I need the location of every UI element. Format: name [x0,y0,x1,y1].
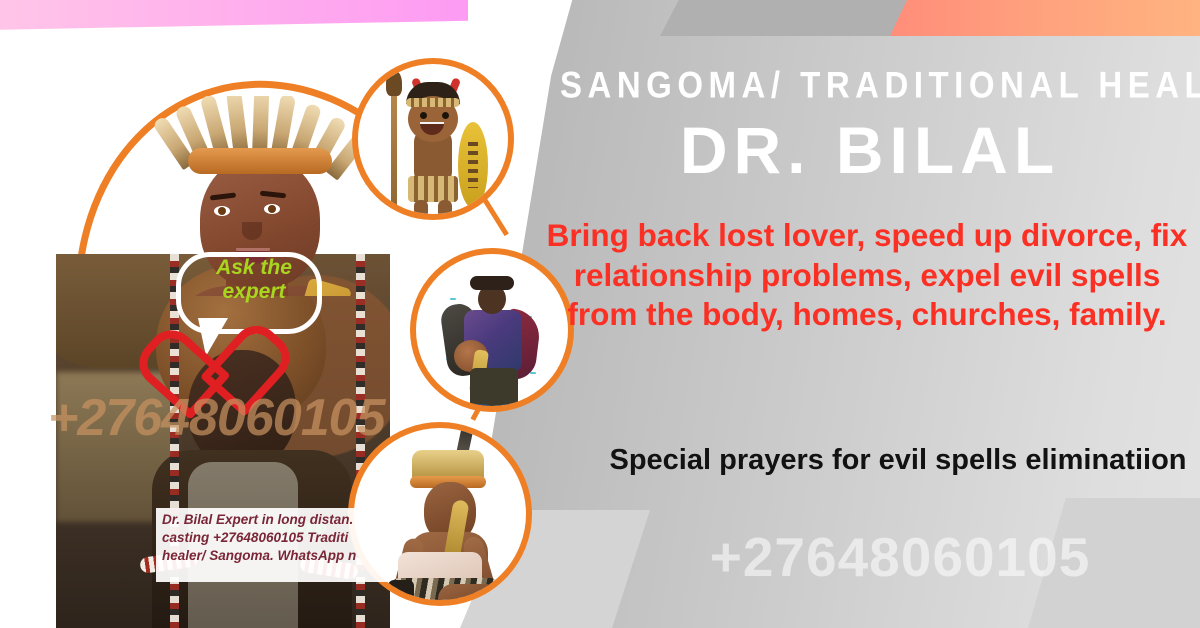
photo-caption: Dr. Bilal Expert in long distan. casting… [156,508,388,582]
special-prayers-subheading: Special prayers for evil spells eliminat… [600,442,1196,479]
kicker-heading: SANGOMA/ TRADITIONAL HEALER [560,64,1180,107]
left-collage-panel: +27648060105 Ask the expert Dr. Bilal Ex… [0,0,560,628]
panel-watermark-phone: +27648060105 [600,525,1200,589]
caption-line-2: casting +27648060105 Traditi [162,529,382,547]
page-title: DR. BILAL [560,112,1180,188]
zulu-warrior-illustration [352,58,514,220]
top-gray-ribbon [660,0,920,36]
speech-bubble-label: Ask the expert [196,256,312,303]
advertisement-banner: +27648060105 Ask the expert Dr. Bilal Ex… [0,0,1200,628]
caption-line-1: Dr. Bilal Expert in long distan. [162,511,382,529]
caption-line-3: healer/ Sangoma. WhatsApp n [162,547,382,565]
photo-watermark-phone: +27648060105 [48,388,468,448]
services-description: Bring back lost lover, speed up divorce,… [542,216,1192,335]
top-orange-ribbon [890,0,1200,36]
